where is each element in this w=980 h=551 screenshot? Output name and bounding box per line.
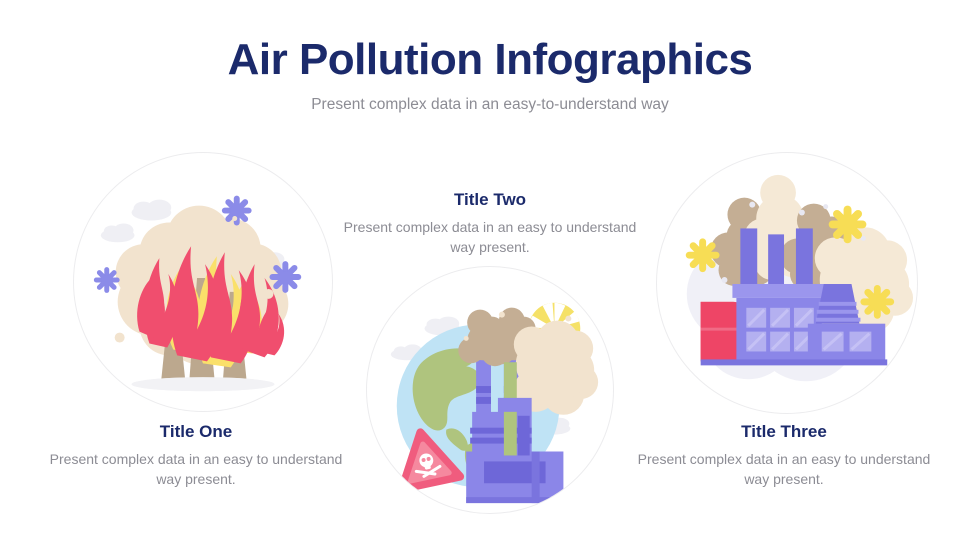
slide: Air Pollution Infographics Present compl… — [0, 0, 980, 551]
text-block-one: Title One Present complex data in an eas… — [46, 422, 346, 490]
factory-annex — [808, 324, 885, 362]
small-cloud-icon — [132, 200, 172, 221]
forest-fire-illustration — [74, 153, 332, 411]
item-description-one: Present complex data in an easy to under… — [46, 449, 346, 490]
factory-plant-illustration — [657, 153, 917, 413]
snowflake-icon — [222, 196, 252, 226]
item-title-three: Title Three — [634, 422, 934, 442]
factory-base — [701, 359, 888, 365]
item-description-two: Present complex data in an easy to under… — [340, 217, 640, 258]
item-description-three: Present complex data in an easy to under… — [634, 449, 934, 490]
illustration-circle-two — [366, 266, 614, 514]
text-block-two: Title Two Present complex data in an eas… — [340, 190, 640, 258]
smokestack — [740, 228, 812, 284]
snowflake-icon — [94, 267, 120, 293]
text-block-three: Title Three Present complex data in an e… — [634, 422, 934, 490]
item-title-two: Title Two — [340, 190, 640, 210]
small-cloud-icon — [101, 223, 135, 242]
factory-panel — [518, 416, 530, 456]
starburst-icon — [686, 238, 720, 272]
page-title: Air Pollution Infographics — [0, 38, 980, 82]
page-subtitle: Present complex data in an easy-to-under… — [0, 96, 980, 114]
item-title-one: Title One — [46, 422, 346, 442]
header: Air Pollution Infographics Present compl… — [0, 38, 980, 114]
snowflake-icon — [269, 261, 301, 293]
vent-pipe — [504, 412, 517, 456]
illustration-circle-one — [73, 152, 333, 412]
starburst-icon — [860, 285, 894, 319]
illustration-circle-three — [656, 152, 918, 414]
starburst-icon — [829, 206, 867, 244]
earth-factory-illustration — [367, 267, 613, 513]
